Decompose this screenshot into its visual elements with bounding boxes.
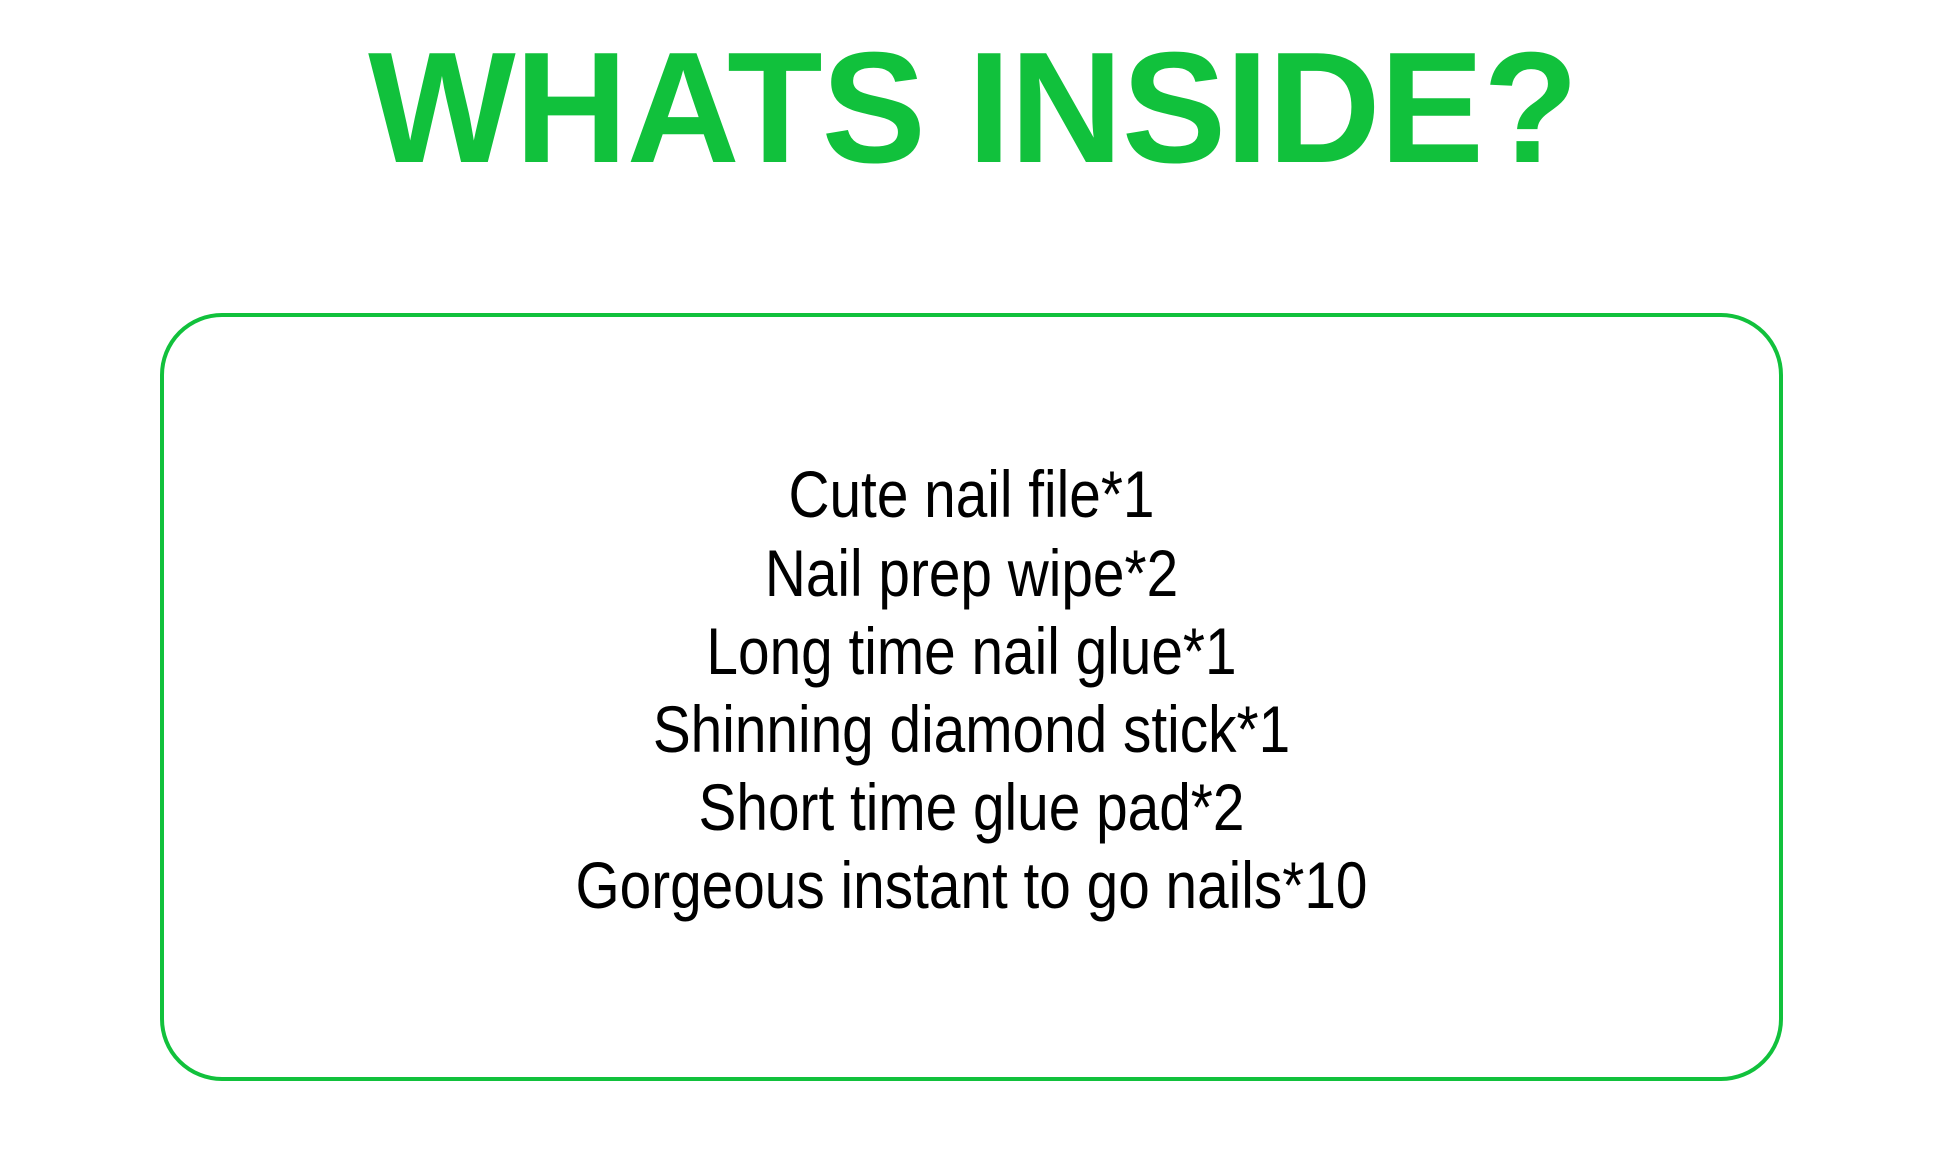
contents-card: Cute nail file*1 Nail prep wipe*2 Long t…	[160, 313, 1783, 1081]
list-item: Gorgeous instant to go nails*10	[277, 846, 1666, 924]
list-item: Short time glue pad*2	[277, 768, 1666, 846]
list-item: Cute nail file*1	[277, 455, 1666, 533]
whats-inside-poster: WHATS INSIDE? Cute nail file*1 Nail prep…	[0, 0, 1946, 1160]
page-title: WHATS INSIDE?	[368, 29, 1577, 187]
list-item: Long time nail glue*1	[277, 612, 1666, 690]
list-item: Nail prep wipe*2	[277, 534, 1666, 612]
contents-list: Cute nail file*1 Nail prep wipe*2 Long t…	[164, 455, 1779, 938]
title-container: WHATS INSIDE?	[0, 0, 1946, 215]
list-item: Shinning diamond stick*1	[277, 690, 1666, 768]
